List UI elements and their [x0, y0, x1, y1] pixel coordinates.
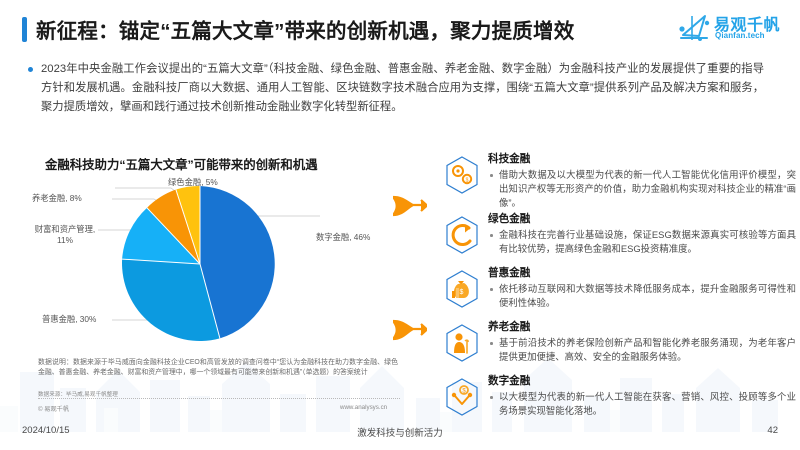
- pillars-list: $ 科技金融 借助大数据及以大模型为代表的新一代人工智能优化信用评价模型，突出知…: [444, 152, 796, 428]
- pie-label-wealth: 财富和资产管理, 11%: [28, 224, 102, 246]
- note-divider: [38, 398, 400, 399]
- pillar-item-green-finance[interactable]: 绿色金融 金融科技在完善行业基础设施，保证ESG数据来源真实可核验等方面具有比较…: [444, 212, 796, 264]
- person-money-icon: $: [444, 377, 480, 417]
- chart-title: 金融科技助力“五篇大文章”可能带来的创新和机遇: [45, 155, 318, 173]
- pillar-description: 基于前沿技术的养老保险创新产品和智能化养老服务涌现，为老年客户提供更加便捷、高效…: [488, 336, 796, 364]
- arrow-right-icon: [393, 317, 427, 343]
- data-note: 数据说明：数据来源于毕马威面向金融科技企业CEO和高管发放的调查问卷中“您认为金…: [38, 358, 398, 378]
- intro-paragraph: 2023年中央金融工作会议提出的“五篇大文章”（科技金融、绿色金融、普惠金融、养…: [24, 60, 764, 117]
- page-title: 新征程：锚定“五篇大文章”带来的创新机遇，聚力提质增效: [36, 14, 574, 44]
- footer-page-number: 42: [767, 425, 778, 436]
- pillar-description: 金融科技在完善行业基础设施，保证ESG数据来源真实可核验等方面具有比较优势，提高…: [488, 228, 796, 256]
- pillar-item-pension-finance[interactable]: 养老金融 基于前沿技术的养老保险创新产品和智能化养老服务涌现，为老年客户提供更加…: [444, 320, 796, 372]
- intro-text: 2023年中央金融工作会议提出的“五篇大文章”（科技金融、绿色金融、普惠金融、养…: [41, 60, 764, 117]
- pillar-heading: 普惠金融: [488, 266, 796, 280]
- recycle-arrow-icon: [444, 215, 480, 255]
- elderly-person-icon: [444, 323, 480, 363]
- slide-root: 新征程：锚定“五篇大文章”带来的创新机遇，聚力提质增效 易观千帆 Qianfan…: [0, 0, 800, 450]
- bullet-dot-icon: [28, 67, 33, 72]
- data-source: 数据来源：毕马威,易观千帆整理: [38, 390, 118, 398]
- arrow-right-icon: [393, 193, 427, 219]
- pie-label-pension: 养老金融, 8%: [32, 193, 82, 204]
- brand-logo: 易观千帆 Qianfan.tech: [678, 10, 790, 48]
- svg-text:$: $: [460, 289, 464, 296]
- website-text: www.analysys.cn: [340, 404, 387, 411]
- slide-header: 新征程：锚定“五篇大文章”带来的创新机遇，聚力提质增效 易观千帆 Qianfan…: [0, 0, 800, 54]
- pillar-description: 借助大数据及以大模型为代表的新一代人工智能优化信用评价模型，突出知识产权等无形资…: [488, 168, 796, 210]
- gears-money-icon: $: [444, 155, 480, 195]
- pillar-heading: 养老金融: [488, 320, 796, 334]
- pillar-heading: 绿色金融: [488, 212, 796, 226]
- pie-label-inclusive: 普惠金融, 30%: [42, 314, 96, 325]
- pie-label-digital: 数字金融, 46%: [316, 232, 370, 243]
- footer-slogan: 激发科技与创新活力: [0, 425, 800, 439]
- brand-name-en: Qianfan.tech: [715, 31, 765, 40]
- pillar-item-inclusive-finance[interactable]: $ 普惠金融 依托移动互联网和大数据等技术降低服务成本，提升金融服务可得性和便利…: [444, 266, 796, 318]
- pie-chart: 数字金融, 46% 普惠金融, 30% 财富和资产管理, 11% 养老金融, 8…: [20, 172, 420, 357]
- pillar-item-tech-finance[interactable]: $ 科技金融 借助大数据及以大模型为代表的新一代人工智能优化信用评价模型，突出知…: [444, 152, 796, 210]
- sailboat-icon: [678, 12, 712, 44]
- pillar-description: 以大模型为代表的新一代人工智能在获客、营销、风控、投顾等多个业务场景实现智能化落…: [488, 390, 796, 418]
- copyright-text: © 易观千帆: [38, 404, 69, 413]
- slide-footer: 2024/10/15 激发科技与创新活力 42: [0, 416, 800, 450]
- pillar-heading: 数字金融: [488, 374, 796, 388]
- pillar-heading: 科技金融: [488, 152, 796, 166]
- pillar-description: 依托移动互联网和大数据等技术降低服务成本，提升金融服务可得性和便利性体验。: [488, 282, 796, 310]
- pie-label-green: 绿色金融, 5%: [168, 177, 218, 188]
- svg-text:$: $: [466, 178, 469, 184]
- title-accent-bar: [22, 17, 27, 42]
- money-bag-coins-icon: $: [444, 269, 480, 309]
